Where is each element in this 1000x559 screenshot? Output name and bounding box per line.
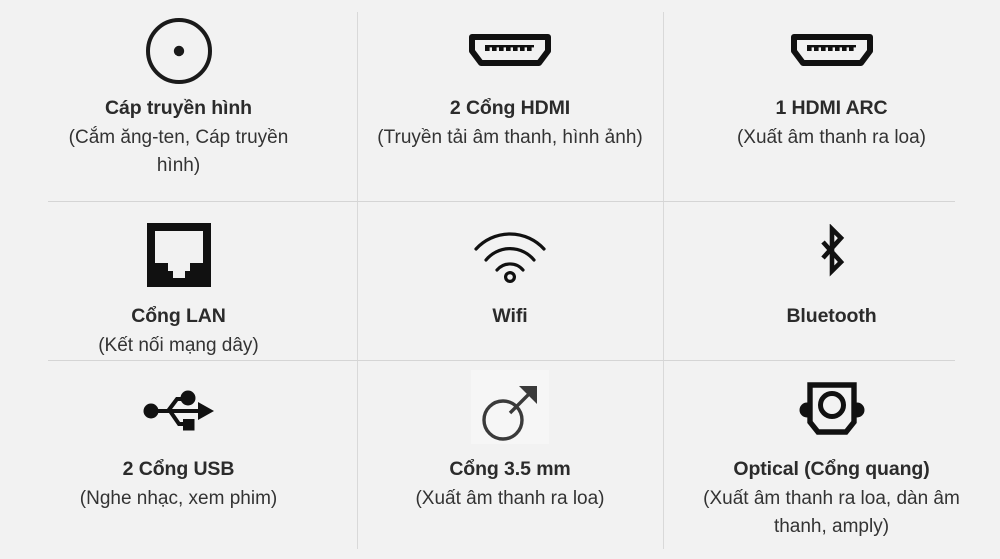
spec-title: 1 HDMI ARC: [775, 97, 887, 120]
spec-title: 2 Cổng HDMI: [450, 97, 570, 120]
grid-divider-vertical-2: [663, 12, 664, 549]
spec-subtitle: (Xuất âm thanh ra loa): [737, 124, 926, 152]
spec-cell-cong-lan: Cổng LAN (Kết nối mạng dây): [0, 201, 357, 360]
grid-divider-vertical-1: [357, 12, 358, 549]
spec-title: Optical (Cổng quang): [733, 458, 929, 481]
spec-title: Cổng 3.5 mm: [449, 458, 570, 481]
grid-divider-horizontal-1: [48, 201, 955, 202]
spec-cell-optical-cong-quang: Optical (Cổng quang) (Xuất âm thanh ra l…: [663, 360, 1000, 559]
lan-ethernet-port-icon: [144, 219, 214, 291]
coaxial-antenna-port-icon: [143, 14, 215, 88]
spec-subtitle: (Xuất âm thanh ra loa, dàn âm thanh, amp…: [698, 485, 966, 540]
spec-title: Bluetooth: [786, 305, 876, 328]
audio-jack-35mm-icon: [477, 374, 543, 448]
spec-subtitle: (Cắm ăng-ten, Cáp truyền hình): [54, 124, 304, 179]
hdmi-arc-port-icon: [786, 14, 878, 88]
spec-title: Cổng LAN: [131, 305, 226, 328]
bluetooth-icon: [810, 219, 854, 291]
spec-subtitle: (Truyền tải âm thanh, hình ảnh): [377, 124, 642, 152]
spec-subtitle: (Kết nối mạng dây): [98, 332, 259, 360]
spec-cell-cong-35-mm: Cổng 3.5 mm (Xuất âm thanh ra loa): [357, 360, 663, 559]
spec-cell-2-cong-hdmi: 2 Cổng HDMI (Truyền tải âm thanh, hình ả…: [357, 0, 663, 201]
spec-cell-2-cong-usb: 2 Cổng USB (Nghe nhạc, xem phim): [0, 360, 357, 559]
usb-port-icon: [140, 374, 218, 448]
spec-title: 2 Cổng USB: [123, 458, 235, 481]
spec-cell-wifi: Wifi: [357, 201, 663, 360]
spec-title: Wifi: [492, 305, 527, 328]
hdmi-port-icon: [464, 14, 556, 88]
wifi-icon: [471, 219, 549, 291]
spec-cell-1-hdmi-arc: 1 HDMI ARC (Xuất âm thanh ra loa): [663, 0, 1000, 201]
spec-cell-cap-truyen-hinh: Cáp truyền hình (Cắm ăng-ten, Cáp truyền…: [0, 0, 357, 201]
spec-title: Cáp truyền hình: [105, 97, 252, 120]
spec-cell-bluetooth: Bluetooth: [663, 201, 1000, 360]
spec-subtitle: (Nghe nhạc, xem phim): [80, 485, 277, 513]
grid-divider-horizontal-2: [48, 360, 955, 361]
spec-subtitle: (Xuất âm thanh ra loa): [415, 485, 604, 513]
connectivity-spec-grid: Cáp truyền hình (Cắm ăng-ten, Cáp truyền…: [0, 0, 1000, 559]
optical-toslink-port-icon: [792, 374, 872, 448]
